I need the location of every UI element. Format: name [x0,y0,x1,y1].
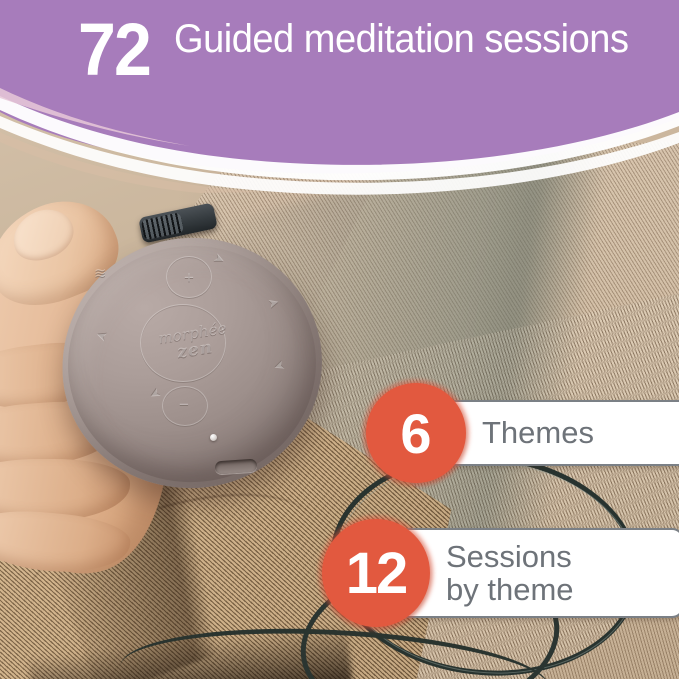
plus-icon: + [184,269,194,286]
callout-themes: 6 Themes [366,383,679,483]
callout-themes-label: Themes [482,417,594,450]
minus-icon: − [179,396,189,413]
callout-sessions-label-line2: by theme [446,573,574,606]
connector-ribs [141,212,184,240]
product-infographic: morphée zen + − ≋ ➤ ➤ ➤ ➤ ➤ 72 [0,0,679,679]
callout-themes-box: Themes [436,400,679,466]
callout-sessions-box: Sessions by theme [396,528,679,618]
wifi-icon: ≋ [94,266,107,281]
callout-themes-count: 6 [366,383,466,483]
callout-sessions-by-theme: 12 Sessions by theme [322,519,679,627]
callout-sessions-count: 12 [322,519,430,627]
led-indicator [210,434,217,441]
callout-sessions-label-line1: Sessions [446,540,574,573]
morphee-zen-device: morphée zen + − ≋ ➤ ➤ ➤ ➤ ➤ [62,238,322,488]
